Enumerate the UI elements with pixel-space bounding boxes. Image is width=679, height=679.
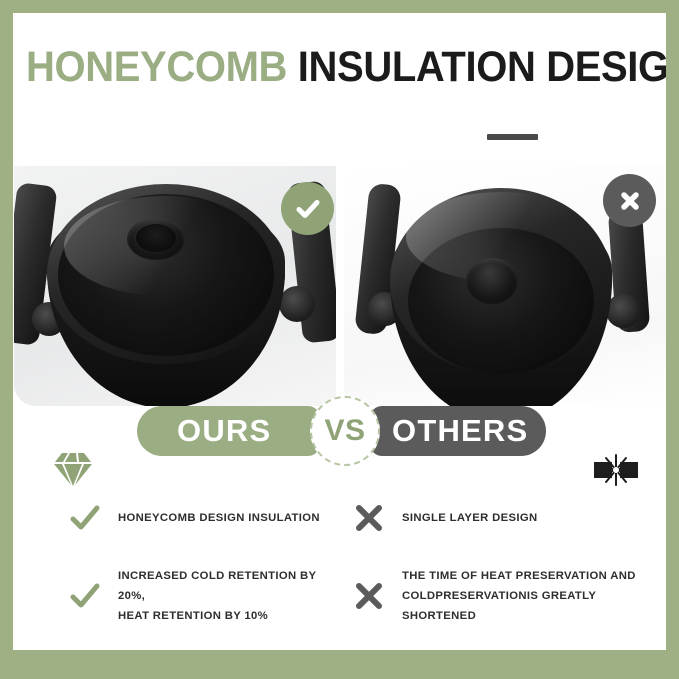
label-vs-text: VS — [324, 414, 365, 448]
label-vs: VS — [310, 396, 380, 466]
check-icon — [68, 579, 102, 613]
container-center-post-others — [466, 258, 518, 304]
infographic-page: HONEYCOMB INSULATION DESIGN — [0, 0, 679, 679]
diamond-icon-svg — [52, 450, 94, 488]
handle-pivot-right-ours — [279, 286, 315, 322]
verdict-badge-ours — [281, 182, 334, 235]
diamond-icon — [52, 450, 94, 493]
feature-text: THE TIME OF HEAT PRESERVATION AND COLDPR… — [402, 566, 642, 626]
content-canvas: HONEYCOMB INSULATION DESIGN — [13, 13, 666, 650]
label-ours: OURS — [137, 406, 320, 456]
label-others-text: OTHERS — [392, 413, 528, 449]
label-others: OTHERS — [370, 406, 546, 456]
divider-dash — [487, 134, 538, 140]
verdict-badge-others — [603, 174, 656, 227]
feature-row-others-2: THE TIME OF HEAT PRESERVATION AND COLDPR… — [352, 566, 642, 626]
broken-icon — [592, 453, 640, 492]
check-icon — [293, 194, 323, 224]
page-title: HONEYCOMB INSULATION DESIGN — [26, 43, 633, 91]
cross-icon — [352, 501, 386, 535]
feature-row-others-1: SINGLE LAYER DESIGN — [352, 501, 642, 535]
feature-text: INCREASED COLD RETENTION BY 20%, HEAT RE… — [118, 566, 338, 626]
broken-icon-svg — [592, 453, 640, 487]
feature-row-ours-2: INCREASED COLD RETENTION BY 20%, HEAT RE… — [68, 566, 338, 626]
container-knob-hole-ours — [136, 224, 176, 252]
handle-pivot-right-others — [606, 294, 640, 328]
feature-text: HONEYCOMB DESIGN INSULATION — [118, 508, 320, 528]
cross-icon — [615, 186, 645, 216]
feature-text: SINGLE LAYER DESIGN — [402, 508, 538, 528]
feature-row-ours-1: HONEYCOMB DESIGN INSULATION — [68, 501, 338, 535]
title-highlight: HONEYCOMB — [26, 43, 287, 91]
label-ours-text: OURS — [177, 413, 271, 449]
product-photo-others — [344, 166, 666, 406]
check-icon — [68, 501, 102, 535]
product-photo-ours — [14, 166, 336, 406]
cross-icon — [352, 579, 386, 613]
title-rest: INSULATION DESIGN — [287, 43, 666, 91]
